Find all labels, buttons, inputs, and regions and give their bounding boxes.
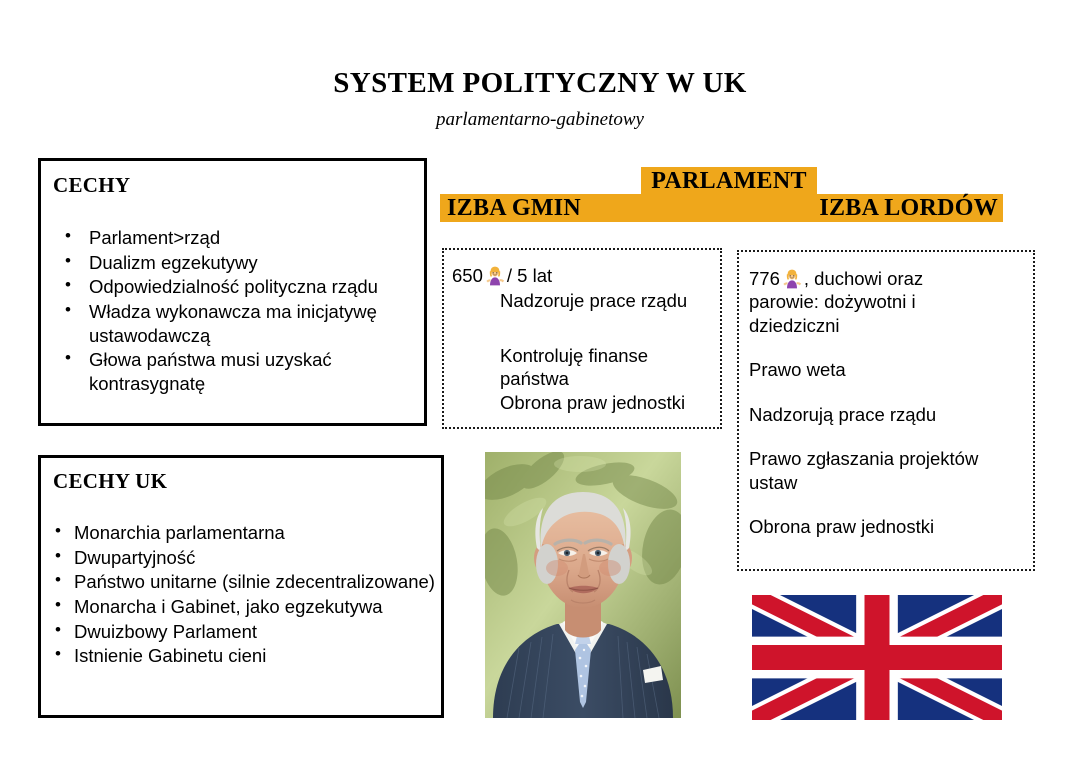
lordow-bills-block: Prawo zgłaszania projektów ustaw: [749, 447, 1027, 494]
list-item: Głowa państwa musi uzyskać kontrasygnatę: [59, 348, 409, 395]
gmin-rights: Obrona praw jednostki: [500, 391, 712, 414]
parlament-banner: PARLAMENT: [641, 167, 817, 195]
lordow-composition-1: , duchowi oraz: [804, 268, 923, 289]
izba-lordow-details-box: 776, duchowi oraz parowie: dożywotni i d…: [737, 250, 1035, 571]
page-title: SYSTEM POLITYCZNY W UK: [0, 68, 1080, 100]
cechy-uk-box: CECHY UK Monarchia parlamentarna Dwupart…: [38, 455, 444, 718]
cechy-list: Parlament>rząd Dualizm egzekutywy Odpowi…: [59, 226, 409, 396]
gmin-finance-line1: Kontroluję finanse: [500, 344, 712, 367]
lordow-count-row: 776, duchowi oraz: [749, 267, 1027, 290]
list-item: Dwuizbowy Parlament: [53, 620, 441, 644]
list-item: Państwo unitarne (silnie zdecentralizowa…: [53, 570, 441, 594]
lordow-supervise: Nadzorują prace rządu: [749, 403, 1027, 426]
izba-gmin-details-box: 650/ 5 lat Nadzoruje prace rządu Kontrol…: [442, 248, 722, 429]
lordow-composition-block: 776, duchowi oraz parowie: dożywotni i d…: [749, 267, 1027, 337]
gmin-count-row: 650/ 5 lat: [452, 264, 712, 287]
list-item: Dualizm egzekutywy: [59, 251, 409, 275]
gmin-finance-line2: państwa: [500, 367, 712, 390]
izba-gmin-label: IZBA GMIN: [447, 195, 581, 222]
chambers-banner: IZBA GMIN IZBA LORDÓW: [440, 194, 1003, 222]
gmin-supervise: Nadzoruje prace rządu: [500, 289, 712, 312]
cechy-heading: CECHY: [53, 173, 424, 198]
lordow-composition-2: parowie: dożywotni i: [749, 290, 1027, 313]
woman-tipping-hand-icon: [484, 265, 506, 286]
title-block: SYSTEM POLITYCZNY W UK parlamentarno-gab…: [0, 68, 1080, 131]
united-kingdom-flag: [752, 588, 1002, 727]
list-item: Parlament>rząd: [59, 226, 409, 250]
lordow-supervise-block: Nadzorują prace rządu: [749, 403, 1027, 426]
parlament-label: PARLAMENT: [651, 168, 807, 195]
cechy-uk-heading: CECHY UK: [53, 469, 441, 494]
gmin-term: / 5 lat: [507, 265, 552, 286]
list-item: Odpowiedzialność polityczna rządu: [59, 275, 409, 299]
lordow-composition-3: dziedziczni: [749, 314, 1027, 337]
cechy-box: CECHY Parlament>rząd Dualizm egzekutywy …: [38, 158, 427, 426]
list-item: Dwupartyjność: [53, 546, 441, 570]
lordow-rights-block: Obrona praw jednostki: [749, 515, 1027, 538]
lordow-veto: Prawo weta: [749, 358, 1027, 381]
list-item: Monarcha i Gabinet, jako egzekutywa: [53, 595, 441, 619]
izba-lordow-label: IZBA LORDÓW: [819, 195, 998, 222]
list-item: Władza wykonawcza ma inicjatywę ustawoda…: [59, 300, 409, 347]
cechy-uk-list: Monarchia parlamentarna Dwupartyjność Pa…: [53, 521, 441, 668]
page-subtitle: parlamentarno-gabinetowy: [0, 109, 1080, 131]
lordow-bills-1: Prawo zgłaszania projektów: [749, 447, 1027, 470]
lordow-bills-2: ustaw: [749, 471, 1027, 494]
lordow-rights: Obrona praw jednostki: [749, 515, 1027, 538]
lordow-count: 776: [749, 268, 780, 289]
king-charles-portrait: [485, 452, 681, 718]
lordow-veto-block: Prawo weta: [749, 358, 1027, 381]
list-item: Monarchia parlamentarna: [53, 521, 441, 545]
gmin-count: 650: [452, 265, 483, 286]
woman-tipping-hand-icon: [781, 268, 803, 289]
list-item: Istnienie Gabinetu cieni: [53, 644, 441, 668]
